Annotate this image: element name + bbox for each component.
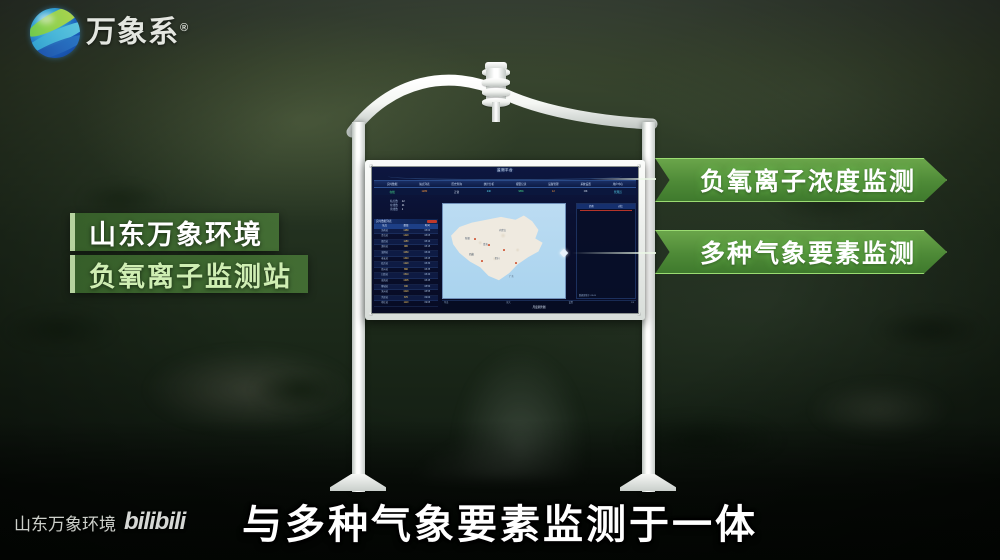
kpi-value: 24h xyxy=(473,190,505,193)
kpi-value: 正常 xyxy=(441,190,473,194)
dashboard-title: 监测平台 xyxy=(372,168,638,173)
feature-banner-ion-concentration-text: 负氧离子浓度监测 xyxy=(686,162,916,198)
table-caption-label: 实时数据列表 xyxy=(376,220,392,223)
dashboard-screen[interactable]: 监测平台 实时数据 站点列表 历史查询 统计分析 报警记录 设备管理 系统设置 … xyxy=(371,166,639,314)
table-cell: 08:20 xyxy=(417,251,438,256)
map-region-label: 西藏 xyxy=(469,252,474,256)
table-cell: 08:55 xyxy=(417,290,438,295)
table-cell: 08:05 xyxy=(417,234,438,239)
chart-tool[interactable]: 导出 xyxy=(444,301,448,305)
table-cell: 威海站 xyxy=(374,279,395,284)
table-cell: 08:15 xyxy=(417,245,438,250)
nav-item[interactable]: 站点列表 xyxy=(408,182,440,186)
side-panel-tab[interactable]: 趋势 xyxy=(577,204,606,209)
left-label-product-text: 负氧离子监测站 xyxy=(89,255,308,294)
summary-stat-value: 12 xyxy=(402,200,405,203)
kpi-value: 管理员 xyxy=(602,190,634,194)
table-cell: 滨州站 xyxy=(374,290,395,295)
nav-item[interactable]: 报警记录 xyxy=(505,182,537,186)
callout-lead-line xyxy=(590,178,656,180)
map-landmass xyxy=(449,214,553,286)
dashboard-summary-stats: 站点数12 在线数11 离线数1 xyxy=(390,200,405,213)
kpi-value: 在线 xyxy=(376,190,408,194)
table-cell: 08:30 xyxy=(417,262,438,267)
brand-logo: 万象系® xyxy=(30,8,189,58)
table-cell: 1280 xyxy=(395,229,416,234)
table-cell: 09:00 xyxy=(417,296,438,301)
table-cell: 940 xyxy=(395,285,416,290)
table-cell: 青岛站 xyxy=(374,234,395,239)
kpi-value: 1280 xyxy=(408,190,440,193)
table-cell: 08:45 xyxy=(417,279,438,284)
table-cell: 08:40 xyxy=(417,273,438,278)
summary-stat-value: 11 xyxy=(402,204,405,207)
china-map[interactable]: 新疆 西藏 内蒙古 青海 四川 广东 xyxy=(442,203,566,299)
side-detail-panel: 趋势 对比 数据更新于 09:05 xyxy=(576,203,636,299)
map-marker[interactable] xyxy=(515,262,517,264)
watermark-company: 山东万象环境 xyxy=(14,510,116,535)
map-marker[interactable] xyxy=(503,249,505,251)
nav-item[interactable]: 用户中心 xyxy=(602,182,634,186)
side-panel-footer: 数据更新于 09:05 xyxy=(579,293,596,297)
brand-logo-label: 万象系 xyxy=(86,16,179,49)
feature-banner-ion-concentration: 负氧离子浓度监测 xyxy=(655,158,947,202)
map-region-label: 内蒙古 xyxy=(499,228,506,232)
chart-tool[interactable]: 设置 xyxy=(569,301,573,305)
table-cell: 08:10 xyxy=(417,240,438,245)
kpi-value: OK xyxy=(570,190,602,193)
table-body: 济南站128008:00青岛站142008:05烟台站115008:10潍坊站9… xyxy=(374,229,438,307)
table-cell: 1510 xyxy=(395,273,416,278)
kpi-value: 12 xyxy=(537,190,569,193)
table-cell: 聊城站 xyxy=(374,285,395,290)
table-cell: 870 xyxy=(395,296,416,301)
table-cell: 08:50 xyxy=(417,285,438,290)
display-panel: 监测平台 实时数据 站点列表 历史查询 统计分析 报警记录 设备管理 系统设置 … xyxy=(365,160,645,320)
feature-banner-weather-elements: 多种气象要素监测 xyxy=(655,230,947,274)
dashboard-nav[interactable]: 实时数据 站点列表 历史查询 统计分析 报警记录 设备管理 系统设置 用户中心 xyxy=(374,180,636,188)
table-cell: 1605 xyxy=(395,279,416,284)
screenshot-root: 万象系® xyxy=(0,0,1000,560)
table-cell: 淄博站 xyxy=(374,251,395,256)
left-label-company-text: 山东万象环境 xyxy=(89,213,279,252)
chart-title: 月度趋势图 xyxy=(442,305,636,309)
summary-stat-label: 在线数 xyxy=(390,204,398,207)
table-cell: 08:35 xyxy=(417,268,438,273)
table-cell: 1060 xyxy=(395,251,416,256)
table-cell: 1340 xyxy=(395,257,416,262)
dashboard-kpi-row: 在线 1280 正常 24h 98% 12 OK 管理员 xyxy=(374,188,636,195)
bilibili-logo-icon: bilibili xyxy=(124,508,185,536)
side-panel-tabs[interactable]: 趋势 对比 xyxy=(577,204,635,209)
table-cell: 1110 xyxy=(395,301,416,306)
map-region-label: 四川 xyxy=(495,256,500,260)
left-label-company: 山东万象环境 xyxy=(70,213,279,251)
chart-page-indicator: 1/3 xyxy=(631,301,634,305)
table-caption: 实时数据列表 xyxy=(374,219,438,224)
table-cell: 泰安站 xyxy=(374,257,395,262)
callout-lead-line xyxy=(572,252,656,254)
chart-tool[interactable]: 放大 xyxy=(506,301,510,305)
brand-logo-text: 万象系® xyxy=(86,18,189,48)
dashboard: 监测平台 实时数据 站点列表 历史查询 统计分析 报警记录 设备管理 系统设置 … xyxy=(372,167,638,313)
table-cell: 德州站 xyxy=(374,268,395,273)
weather-sensor-radiation-shield-icon xyxy=(481,62,511,120)
table-cell: 济南站 xyxy=(374,229,395,234)
nav-item[interactable]: 统计分析 xyxy=(473,182,505,186)
trend-chart-panel: 导出 放大 设置 1/3 月度趋势图 888672403430282426222… xyxy=(442,300,636,312)
left-label-product: 负氧离子监测站 xyxy=(70,255,308,293)
table-cell: 烟台站 xyxy=(374,240,395,245)
feature-banner-weather-elements-text: 多种气象要素监测 xyxy=(686,234,916,270)
table-cell: 1150 xyxy=(395,240,416,245)
table-cell: 潍坊站 xyxy=(374,245,395,250)
table-cell: 枣庄站 xyxy=(374,301,395,306)
table-cell: 08:00 xyxy=(417,229,438,234)
table-cell: 09:05 xyxy=(417,301,438,306)
nav-item[interactable]: 实时数据 xyxy=(376,182,408,186)
nav-item[interactable]: 系统设置 xyxy=(570,182,602,186)
table-cell: 临沂站 xyxy=(374,262,395,267)
summary-stat-label: 站点数 xyxy=(390,200,398,203)
table-cell: 08:25 xyxy=(417,257,438,262)
nav-item[interactable]: 设备管理 xyxy=(537,182,569,186)
kpi-value: 98% xyxy=(505,190,537,193)
table-cell: 1020 xyxy=(395,290,416,295)
registered-mark: ® xyxy=(180,22,189,34)
nav-item[interactable]: 历史查询 xyxy=(441,182,473,186)
side-panel-divider xyxy=(580,210,632,211)
table-cell: 1220 xyxy=(395,262,416,267)
map-region-label: 新疆 xyxy=(465,236,470,240)
watermark: 山东万象环境 bilibili xyxy=(14,508,185,536)
monitoring-kiosk: 监测平台 实时数据 站点列表 历史查询 统计分析 报警记录 设备管理 系统设置 … xyxy=(330,62,680,462)
summary-stat-label: 离线数 xyxy=(390,208,398,211)
support-post-left xyxy=(352,122,365,492)
table-cell: 980 xyxy=(395,245,416,250)
summary-stat: 离线数1 xyxy=(390,208,405,212)
table-cell: 日照站 xyxy=(374,273,395,278)
globe-swirl-logo-icon xyxy=(30,8,80,58)
map-marker[interactable] xyxy=(481,260,483,262)
side-panel-tab[interactable]: 对比 xyxy=(606,204,635,209)
accent-bar xyxy=(70,255,75,293)
accent-bar xyxy=(70,213,75,251)
trend-line-chart: 8886724034302824262220242628302729323433… xyxy=(444,310,634,314)
summary-stat-value: 1 xyxy=(402,208,403,211)
refresh-badge[interactable] xyxy=(427,220,437,223)
map-region-label: 广东 xyxy=(509,274,514,278)
table-cell: 1420 xyxy=(395,234,416,239)
table-cell: 890 xyxy=(395,268,416,273)
realtime-data-table[interactable]: 实时数据列表 站点 数值 时间 济南站128008:00青岛站142008:05… xyxy=(374,219,438,307)
map-marker[interactable] xyxy=(488,244,490,246)
map-marker[interactable] xyxy=(474,238,476,240)
table-row[interactable]: 枣庄站111009:05 xyxy=(374,301,438,307)
table-cell: 菏泽站 xyxy=(374,296,395,301)
